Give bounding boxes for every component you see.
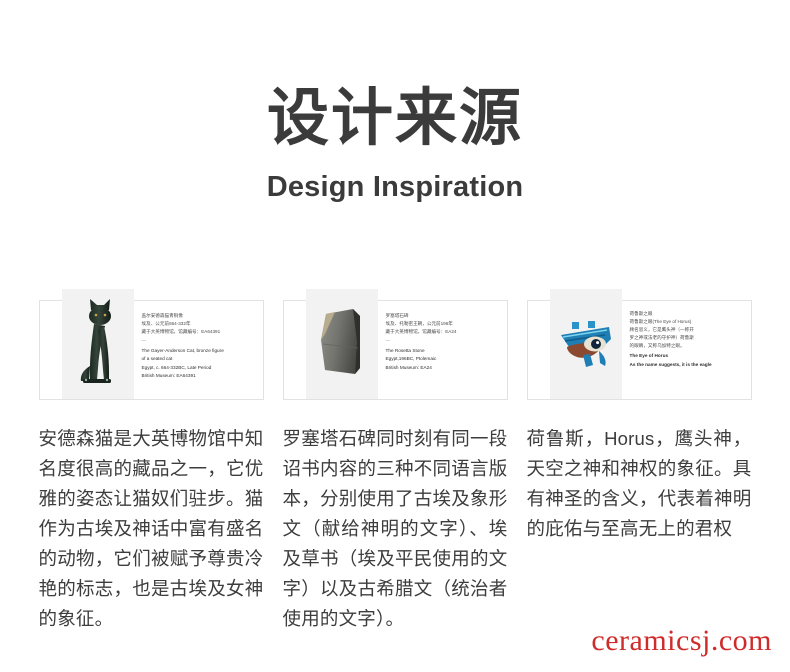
artifact-caption: 荷鲁斯之眼 荷鲁斯之眼(The Eye of Horus) 顾名思义，它是鹰头神… — [630, 310, 746, 369]
artifact-card-rosetta-stone: 罗塞塔石碑 埃及、托勒密王朝，公元前196年 藏于大英博物馆，馆藏编号：EA24… — [283, 300, 508, 400]
artifact-caption-english: The Gayer-Anderson Cat, bronze figure of… — [142, 347, 258, 380]
design-inspiration-page: 设计来源 Design Inspiration — [0, 0, 790, 672]
artifact-card-cat: 盖尔安德森猫青铜像 埃及、公元前664-332年 藏于大英博物馆，馆藏编号：EA… — [39, 300, 264, 400]
description-paragraph-rosetta-stone: 罗塞塔石碑同时刻有同一段诏书内容的三种不同语言版本，分别使用了古埃及象形文（献给… — [283, 424, 508, 634]
artifact-caption-english: The Rosetta Stone Egypt,196BC, Ptolemaic… — [386, 347, 502, 372]
description-paragraph-cat: 安德森猫是大英博物馆中知名度很高的藏品之一，它优雅的姿态让猫奴们驻步。猫作为古埃… — [39, 424, 264, 634]
description-row: 安德森猫是大英博物馆中知名度很高的藏品之一，它优雅的姿态让猫奴们驻步。猫作为古埃… — [0, 424, 790, 634]
description-paragraph-eye-of-horus: 荷鲁斯，Horus，鹰头神，天空之神和神权的象征。具有神圣的含义，代表着神明的庇… — [527, 424, 752, 634]
site-watermark: ceramicsj.com — [591, 624, 772, 658]
page-header: 设计来源 Design Inspiration — [0, 0, 790, 204]
eye-of-horus-amulet-image — [550, 289, 622, 399]
artifact-caption: 罗塞塔石碑 埃及、托勒密王朝，公元前196年 藏于大英博物馆，馆藏编号：EA24… — [386, 312, 502, 372]
artifact-caption-english: The Eye of Horus As the name suggests, i… — [630, 352, 746, 369]
caption-separator: — — [386, 337, 502, 344]
artifact-caption: 盖尔安德森猫青铜像 埃及、公元前664-332年 藏于大英博物馆，馆藏编号：EA… — [142, 312, 258, 380]
artifact-card-row: 盖尔安德森猫青铜像 埃及、公元前664-332年 藏于大英博物馆，馆藏编号：EA… — [0, 300, 790, 400]
artifact-caption-chinese: 荷鲁斯之眼 荷鲁斯之眼(The Eye of Horus) 顾名思义，它是鹰头神… — [630, 310, 746, 349]
artifact-caption-chinese: 罗塞塔石碑 埃及、托勒密王朝，公元前196年 藏于大英博物馆，馆藏编号：EA24 — [386, 312, 502, 336]
caption-separator: — — [142, 337, 258, 344]
artifact-card-eye-of-horus: 荷鲁斯之眼 荷鲁斯之眼(The Eye of Horus) 顾名思义，它是鹰头神… — [527, 300, 752, 400]
page-title-chinese: 设计来源 — [0, 86, 790, 153]
page-title-english: Design Inspiration — [0, 171, 790, 204]
artifact-caption-chinese: 盖尔安德森猫青铜像 埃及、公元前664-332年 藏于大英博物馆，馆藏编号：EA… — [142, 312, 258, 336]
bronze-cat-statue-image — [62, 289, 134, 399]
rosetta-stone-image — [306, 289, 378, 399]
